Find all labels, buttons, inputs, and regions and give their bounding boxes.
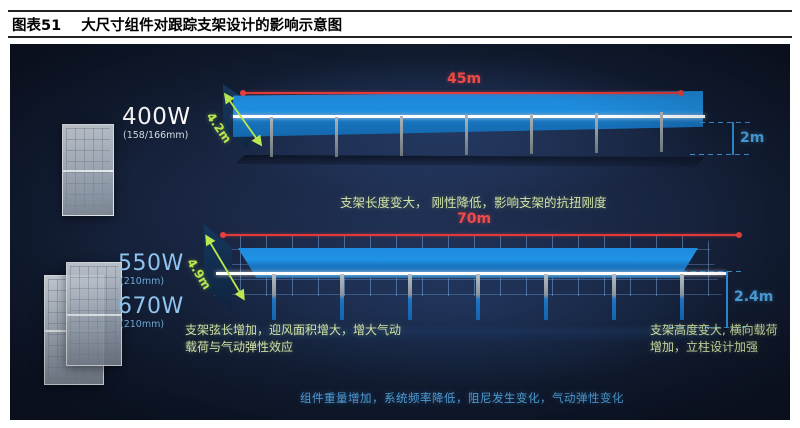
module-size-label-400w: (158/166mm): [123, 130, 188, 141]
tracker-post: [400, 116, 403, 156]
dimension-label-length-top: 45m: [447, 71, 481, 87]
tracker-post: [340, 274, 344, 320]
module-size-label-550w: (210mm): [120, 276, 164, 287]
tracker-torque-tube: [216, 272, 726, 275]
solar-module-550w-icon: [66, 262, 122, 366]
tracker-post: [660, 112, 663, 152]
dimension-guide-bottom-upper: [682, 271, 744, 272]
dimension-label-length-bottom: 70m: [457, 211, 491, 227]
figure-title: 大尺寸组件对跟踪支架设计的影响示意图: [81, 14, 342, 35]
tracker-post: [595, 113, 598, 153]
dimension-line-length-top: [242, 92, 682, 94]
dimension-line-height-top: [732, 122, 734, 155]
dimension-line-height-bottom: [726, 271, 728, 328]
tracker-post: [612, 274, 616, 320]
tracker-panel-deck: [233, 91, 703, 137]
dimension-arrow-width-bottom: [202, 234, 252, 304]
annotation-wind-load: 支架弦长增加，迎风面积增大，增大气动载荷与气动弹性效应: [185, 322, 405, 356]
tracker-post: [335, 117, 338, 157]
tracker-post: [544, 274, 548, 320]
tracker-assembly-top: [215, 79, 735, 194]
annotation-torsional-stiffness: 支架长度变大， 刚性降低，影响支架的抗扭刚度: [340, 192, 606, 211]
tracker-post: [270, 117, 273, 157]
dimension-label-height-top: 2m: [740, 130, 764, 146]
tracker-ground-shadow: [235, 155, 705, 167]
tracker-post: [465, 115, 468, 155]
tracker-post: [476, 274, 480, 320]
tracker-torque-tube: [233, 115, 705, 118]
dimension-guide-top-upper: [700, 122, 750, 123]
figure-number: 图表51: [12, 14, 61, 35]
module-power-label-670w: 670W: [118, 294, 184, 319]
dimension-label-height-bottom: 2.4m: [734, 289, 773, 305]
module-size-label-670w: (210mm): [120, 319, 164, 330]
module-power-label-550w: 550W: [118, 251, 184, 276]
annotation-column-design: 支架高度变大, 横向载荷增加，立柱设计加强: [650, 322, 785, 356]
dimension-line-length-bottom: [222, 234, 740, 236]
tracker-post: [272, 274, 276, 320]
illustration-canvas: 400W (158/166mm) 550W (210mm) 670W (210m…: [10, 44, 790, 420]
solar-module-400w-icon: [62, 124, 114, 216]
dimension-guide-top-lower: [690, 154, 752, 155]
figure-page: 图表51 大尺寸组件对跟踪支架设计的影响示意图 400W (158/166mm)…: [0, 0, 800, 428]
module-midbar: [67, 314, 121, 316]
annotation-system-frequency: 组件重量增加，系统频率降低，阻尼发生变化，气动弹性变化: [300, 390, 624, 406]
module-midbar: [63, 170, 113, 172]
tracker-post: [530, 114, 533, 154]
module-power-label-400w: 400W: [122, 104, 191, 130]
tracker-post: [680, 274, 684, 320]
figure-caption-bar: 图表51 大尺寸组件对跟踪支架设计的影响示意图: [8, 10, 792, 38]
tracker-post: [408, 274, 412, 320]
